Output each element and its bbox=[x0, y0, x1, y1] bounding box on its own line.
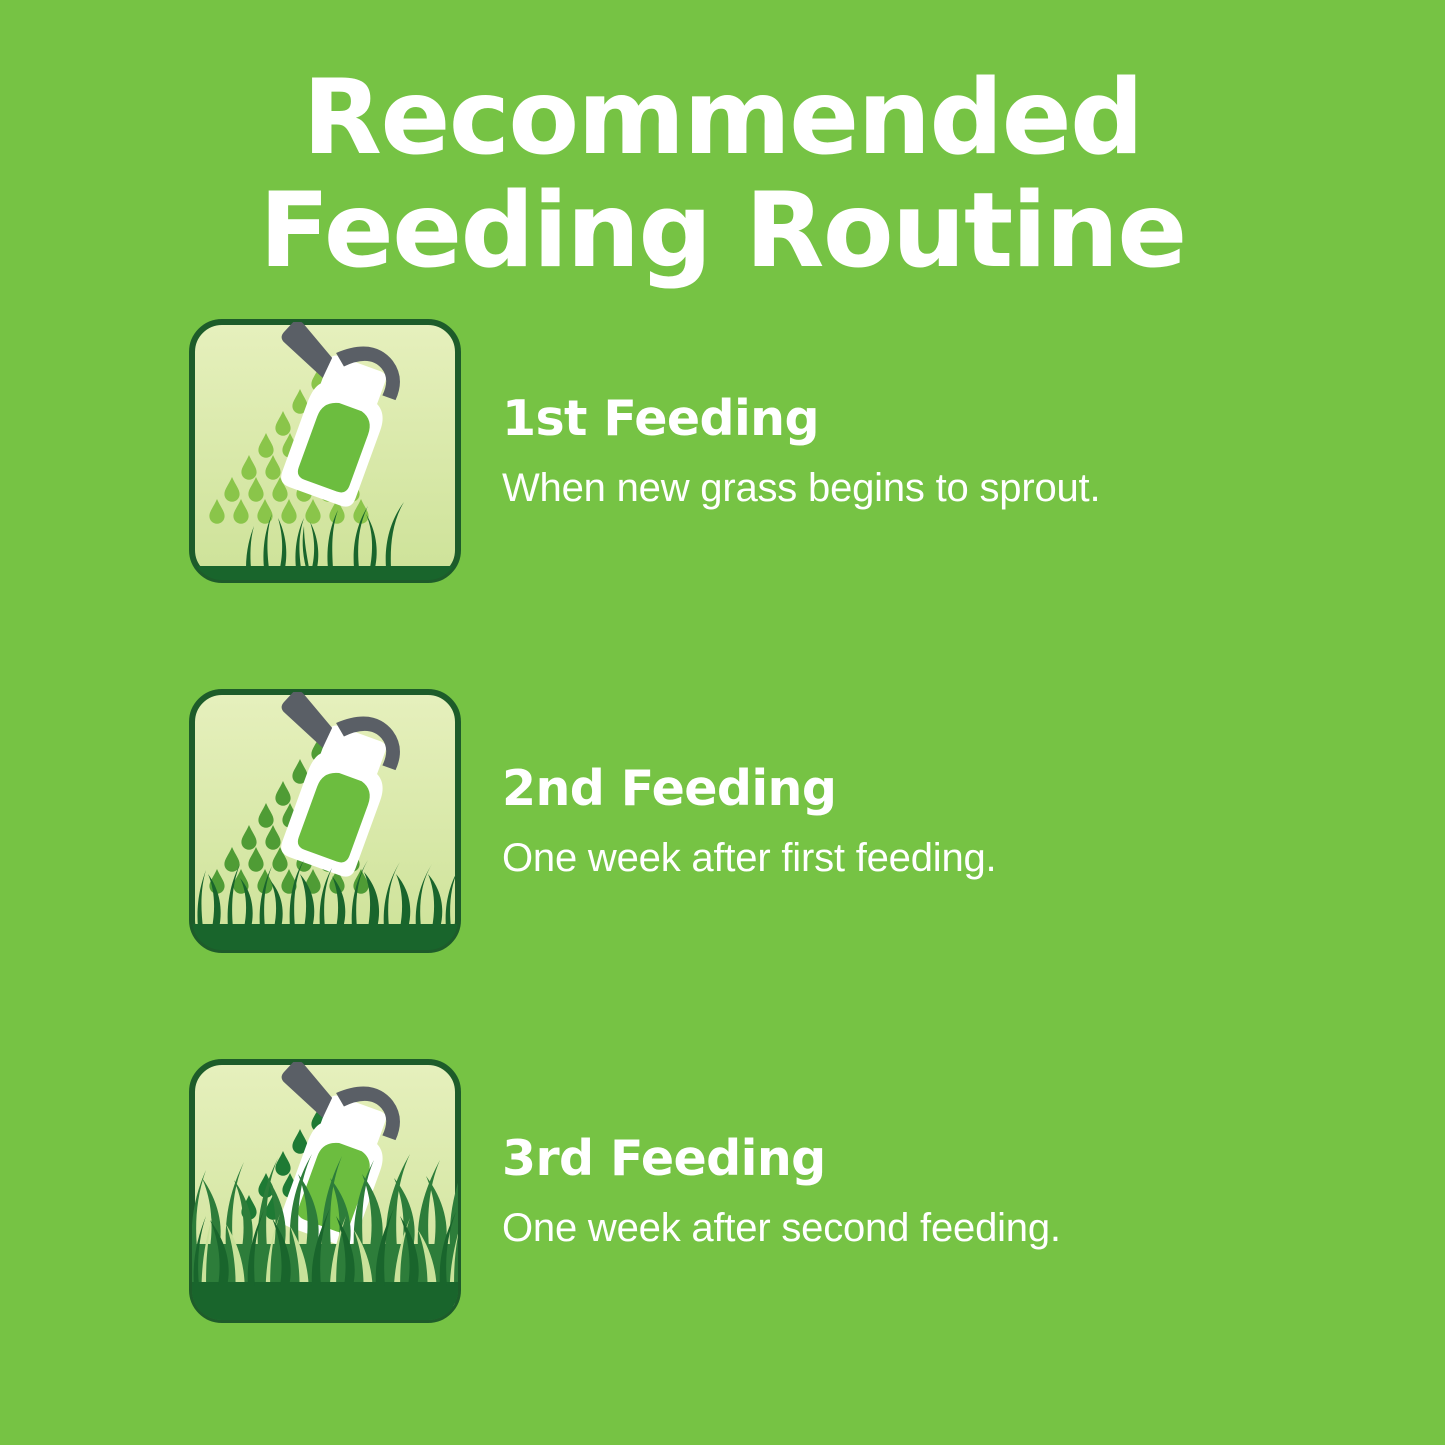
sprayer-bottle-medium-grass-icon bbox=[188, 688, 462, 954]
sprayer-bottle-sparse-grass-icon bbox=[188, 318, 462, 584]
feeding-step-row: 1st Feeding When new grass begins to spr… bbox=[0, 318, 1445, 588]
page-title: Recommended Feeding Routine bbox=[0, 62, 1445, 288]
feeding-step-heading: 2nd Feeding bbox=[502, 760, 1362, 818]
feeding-step-row: 3rd Feeding One week after second feedin… bbox=[0, 1058, 1445, 1328]
feeding-step-heading: 1st Feeding bbox=[502, 390, 1362, 448]
feeding-step-heading: 3rd Feeding bbox=[502, 1130, 1362, 1188]
feeding-step-description: When new grass begins to sprout. bbox=[502, 464, 1362, 512]
sprayer-bottle-full-grass-icon bbox=[188, 1058, 462, 1324]
feeding-step-description: One week after second feeding. bbox=[502, 1204, 1362, 1252]
feeding-step-text: 2nd Feeding One week after first feeding… bbox=[502, 688, 1362, 954]
page-title-line-1: Recommended bbox=[0, 62, 1445, 175]
page-title-line-2: Feeding Routine bbox=[0, 175, 1445, 288]
feeding-step-description: One week after first feeding. bbox=[502, 834, 1362, 882]
feeding-step-text: 3rd Feeding One week after second feedin… bbox=[502, 1058, 1362, 1324]
feeding-step-row: 2nd Feeding One week after first feeding… bbox=[0, 688, 1445, 958]
feeding-step-text: 1st Feeding When new grass begins to spr… bbox=[502, 318, 1362, 584]
